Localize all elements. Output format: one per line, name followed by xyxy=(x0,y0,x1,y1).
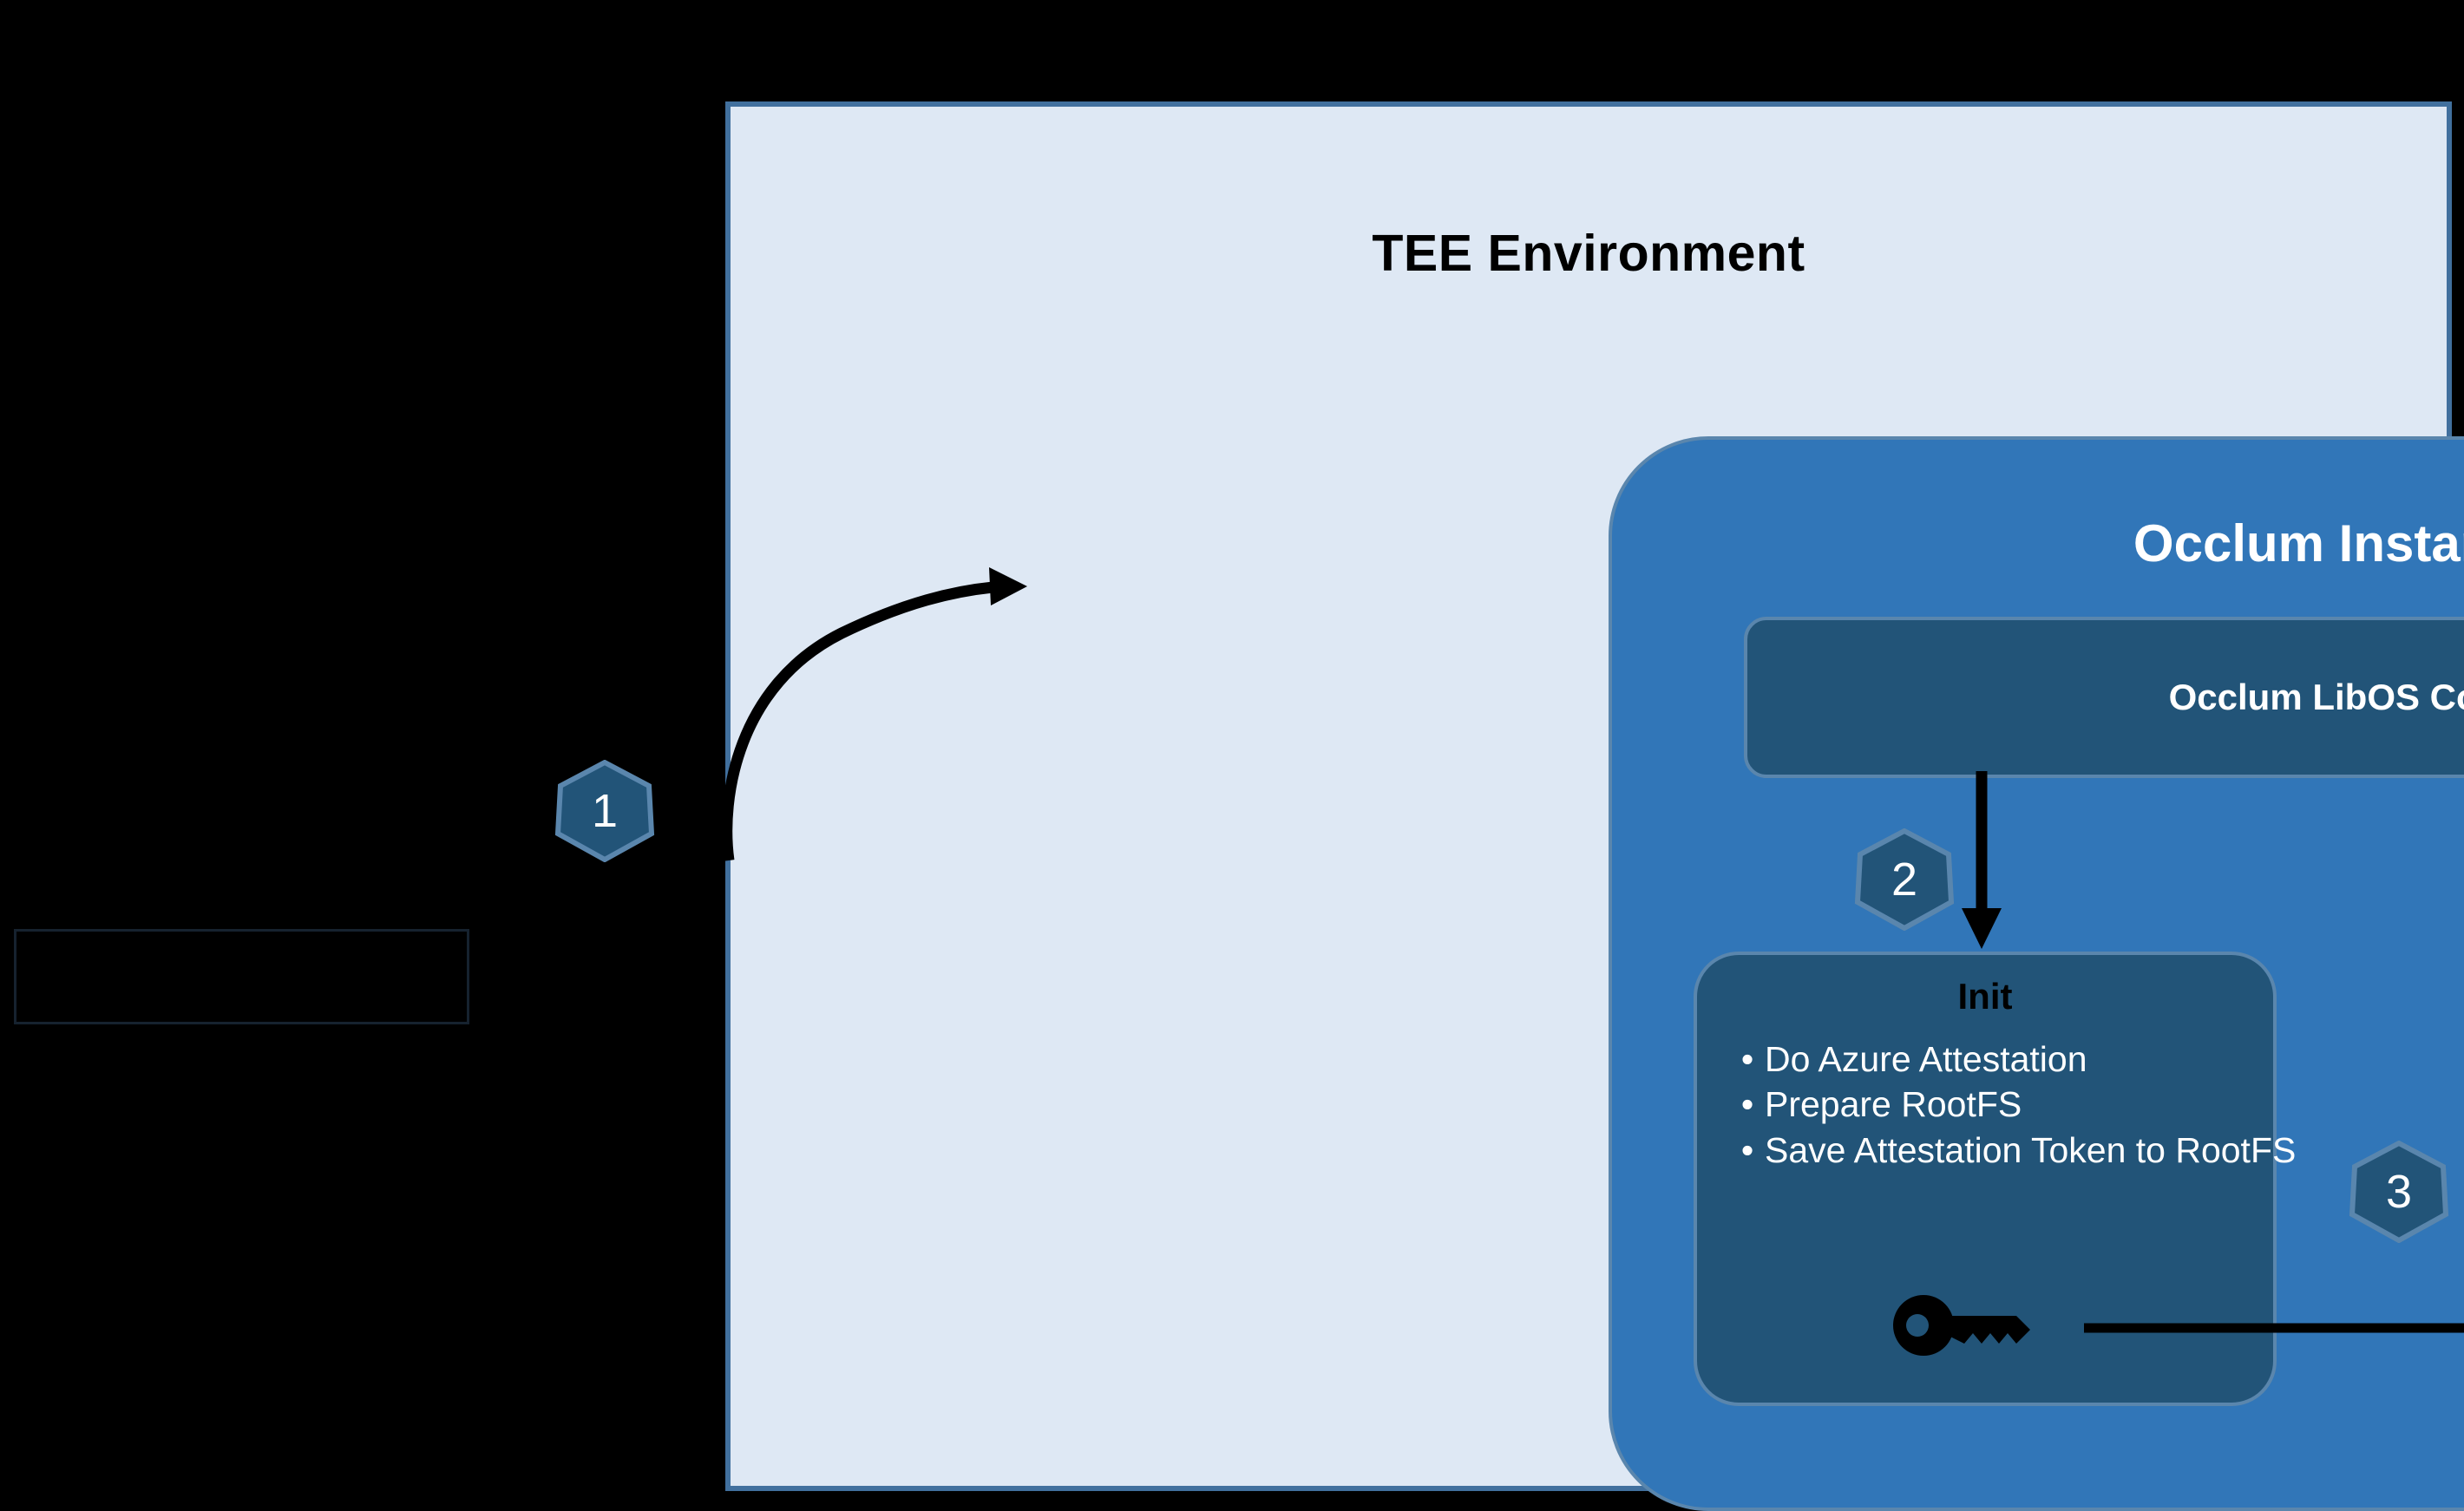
step-badge-2-number: 2 xyxy=(1853,828,1956,931)
list-item: • Do Azure Attestation xyxy=(1730,1038,2306,1080)
step-badge-3-number: 3 xyxy=(2348,1141,2450,1243)
horizontal-arrow-init-key-to-rootfs-key xyxy=(2084,1304,2464,1356)
init-bullet-list: • Do Azure Attestation • Prepare RootFS … xyxy=(1697,1038,2306,1174)
curved-arrow-to-libos-core xyxy=(703,538,1067,867)
key-icon xyxy=(1893,1295,2049,1356)
left-black-region xyxy=(0,0,725,1500)
init-bullet-2: Prepare RootFS xyxy=(1765,1083,2306,1125)
occlum-libos-core-label: Occlum LibOS Core xyxy=(2169,677,2464,718)
tee-environment-title: TEE Environment xyxy=(731,224,2447,283)
list-item: • Prepare RootFS xyxy=(1730,1083,2306,1125)
empty-outlined-box xyxy=(14,929,469,1024)
init-bullet-3: Save Attestation Token to RootFS xyxy=(1765,1129,2306,1171)
vertical-arrow-libos-to-init xyxy=(1945,771,2067,953)
bullet-point-icon: • xyxy=(1730,1129,1765,1171)
list-item: • Save Attestation Token to RootFS xyxy=(1730,1129,2306,1171)
init-box-title: Init xyxy=(1697,976,2273,1017)
occlum-instance-title: Occlum Instance xyxy=(1612,513,2464,573)
step-badge-1-number: 1 xyxy=(554,760,656,862)
bullet-point-icon: • xyxy=(1730,1083,1765,1125)
init-bullet-1: Do Azure Attestation xyxy=(1765,1038,2306,1080)
bullet-point-icon: • xyxy=(1730,1038,1765,1080)
occlum-libos-core-box: Occlum LibOS Core xyxy=(1744,617,2464,778)
